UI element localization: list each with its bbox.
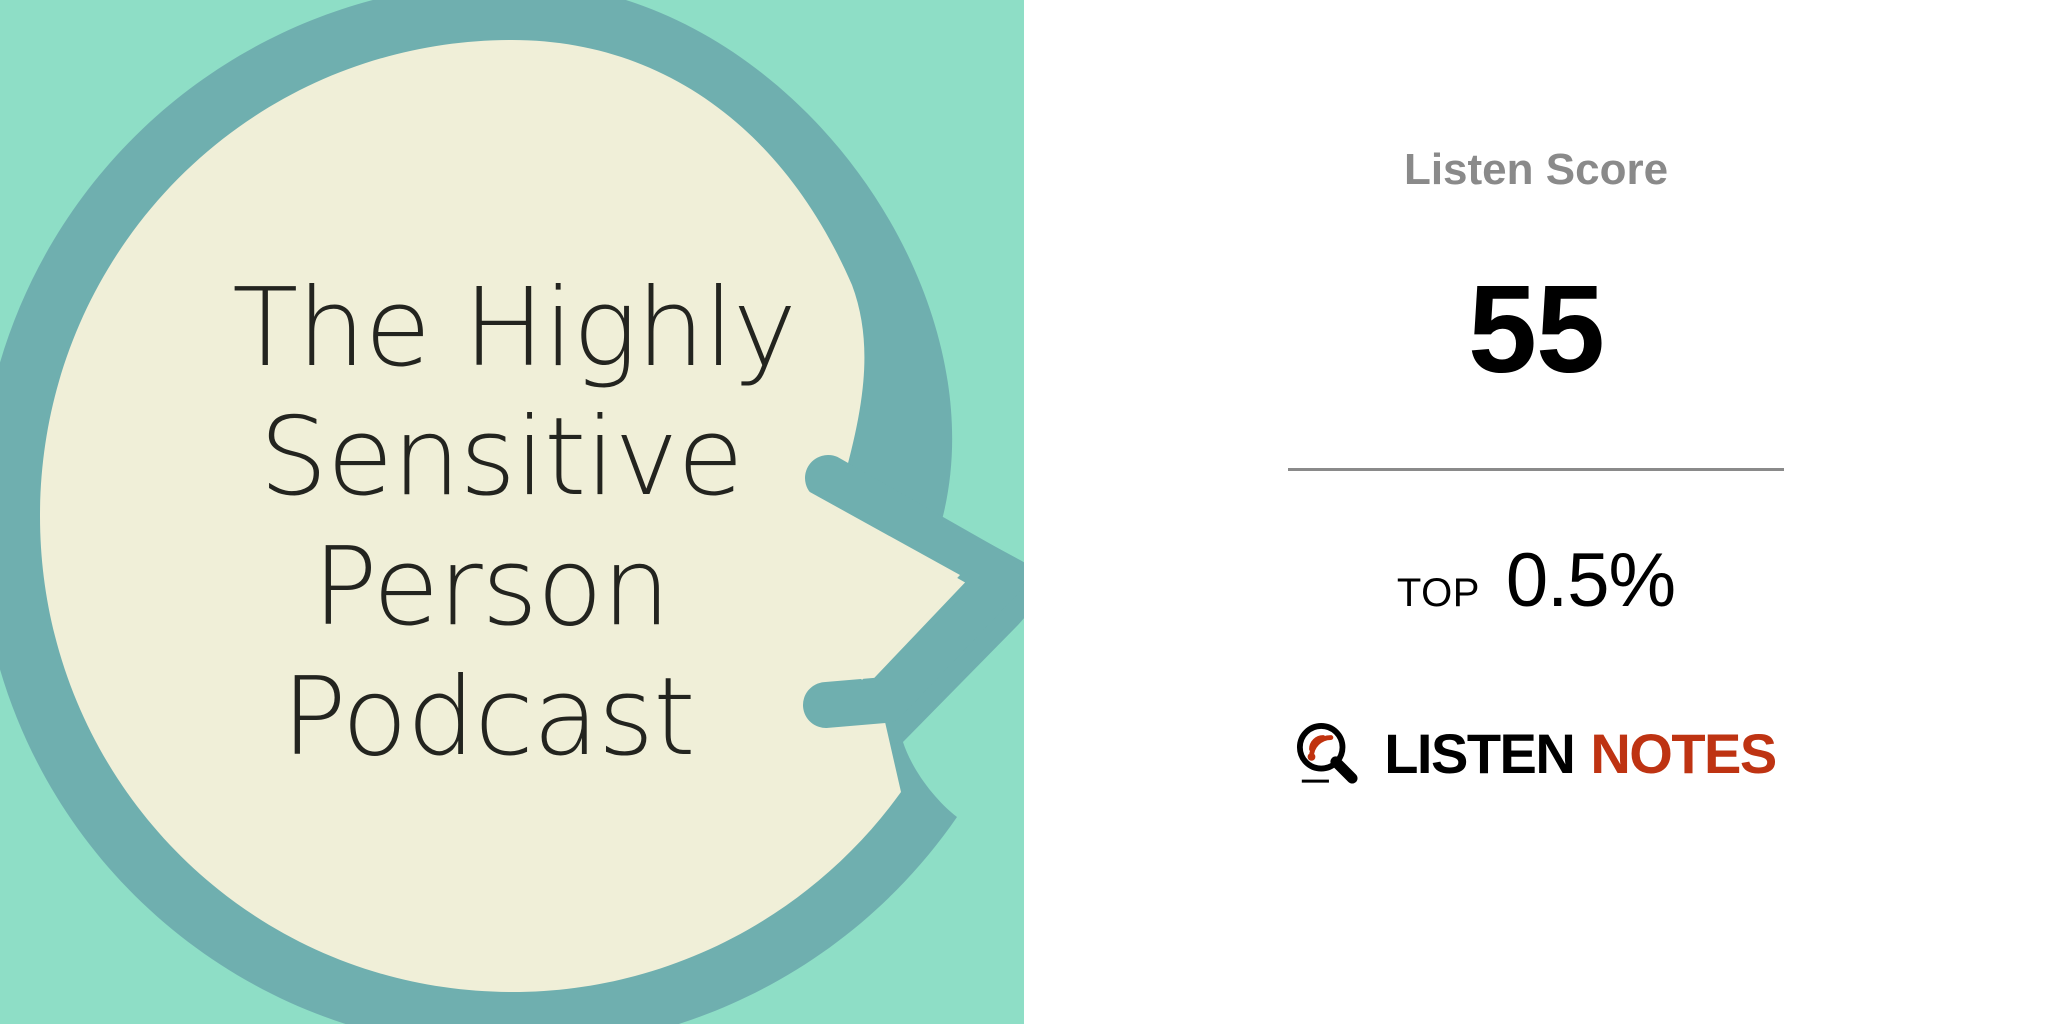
percentile-prefix-label: TOP [1397,571,1480,616]
listen-score-label: Listen Score [1404,148,1668,192]
speech-bubble-graphic [0,0,1024,1024]
listen-notes-word-listen: LISTEN [1384,726,1574,782]
listen-score-value: 55 [1468,268,1604,392]
listen-notes-magnifier-rss-icon [1296,722,1358,786]
listen-notes-logo[interactable]: LISTEN NOTES [1296,722,1776,786]
percentile-rank: TOP 0.5% [1397,537,1675,624]
score-divider [1288,468,1784,471]
listen-notes-wordmark: LISTEN NOTES [1384,726,1776,782]
listen-notes-word-notes: NOTES [1590,726,1775,782]
listen-score-card-screenshot: The Highly Sensitive Person Podcast List… [0,0,2048,1024]
podcast-cover-art[interactable]: The Highly Sensitive Person Podcast [0,0,1024,1024]
listen-score-panel: Listen Score 55 TOP 0.5% [1024,0,2048,1024]
percentile-value: 0.5% [1506,537,1675,624]
